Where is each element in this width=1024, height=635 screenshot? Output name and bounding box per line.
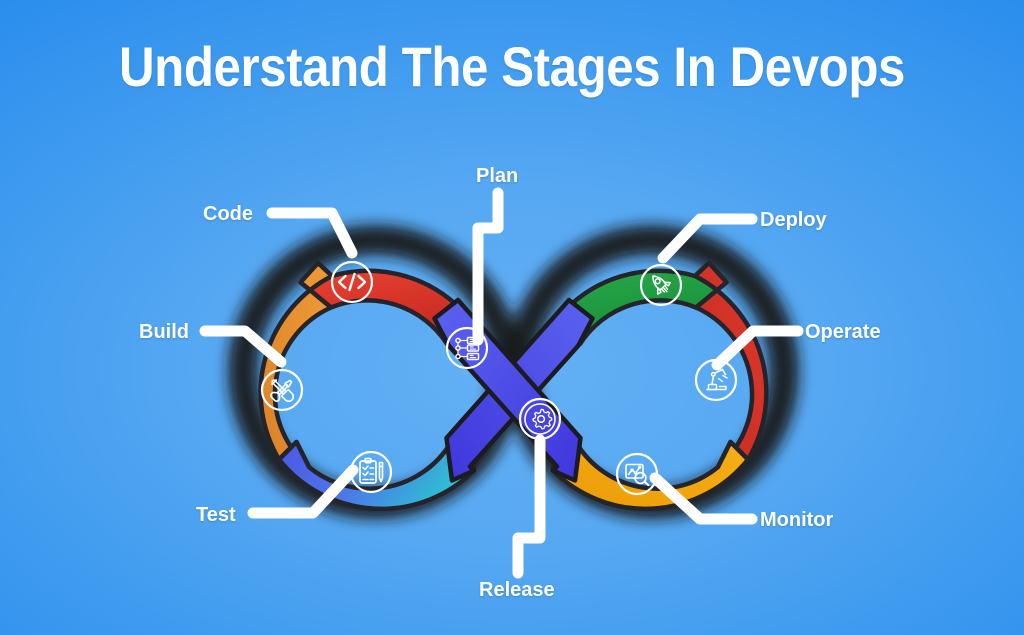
leader-line-release [518,440,540,573]
stage-label-code[interactable]: Code [203,203,253,226]
devops-infinity-diagram [0,0,1024,635]
stage-label-build[interactable]: Build [139,321,189,344]
stage-label-release[interactable]: Release [479,579,555,602]
stage-label-operate[interactable]: Operate [805,321,881,344]
diagram-svg [0,0,1024,635]
stage-label-monitor[interactable]: Monitor [760,509,833,532]
stage-label-plan[interactable]: Plan [476,165,518,188]
stage-label-test[interactable]: Test [196,504,236,527]
stage-label-deploy[interactable]: Deploy [760,209,827,232]
